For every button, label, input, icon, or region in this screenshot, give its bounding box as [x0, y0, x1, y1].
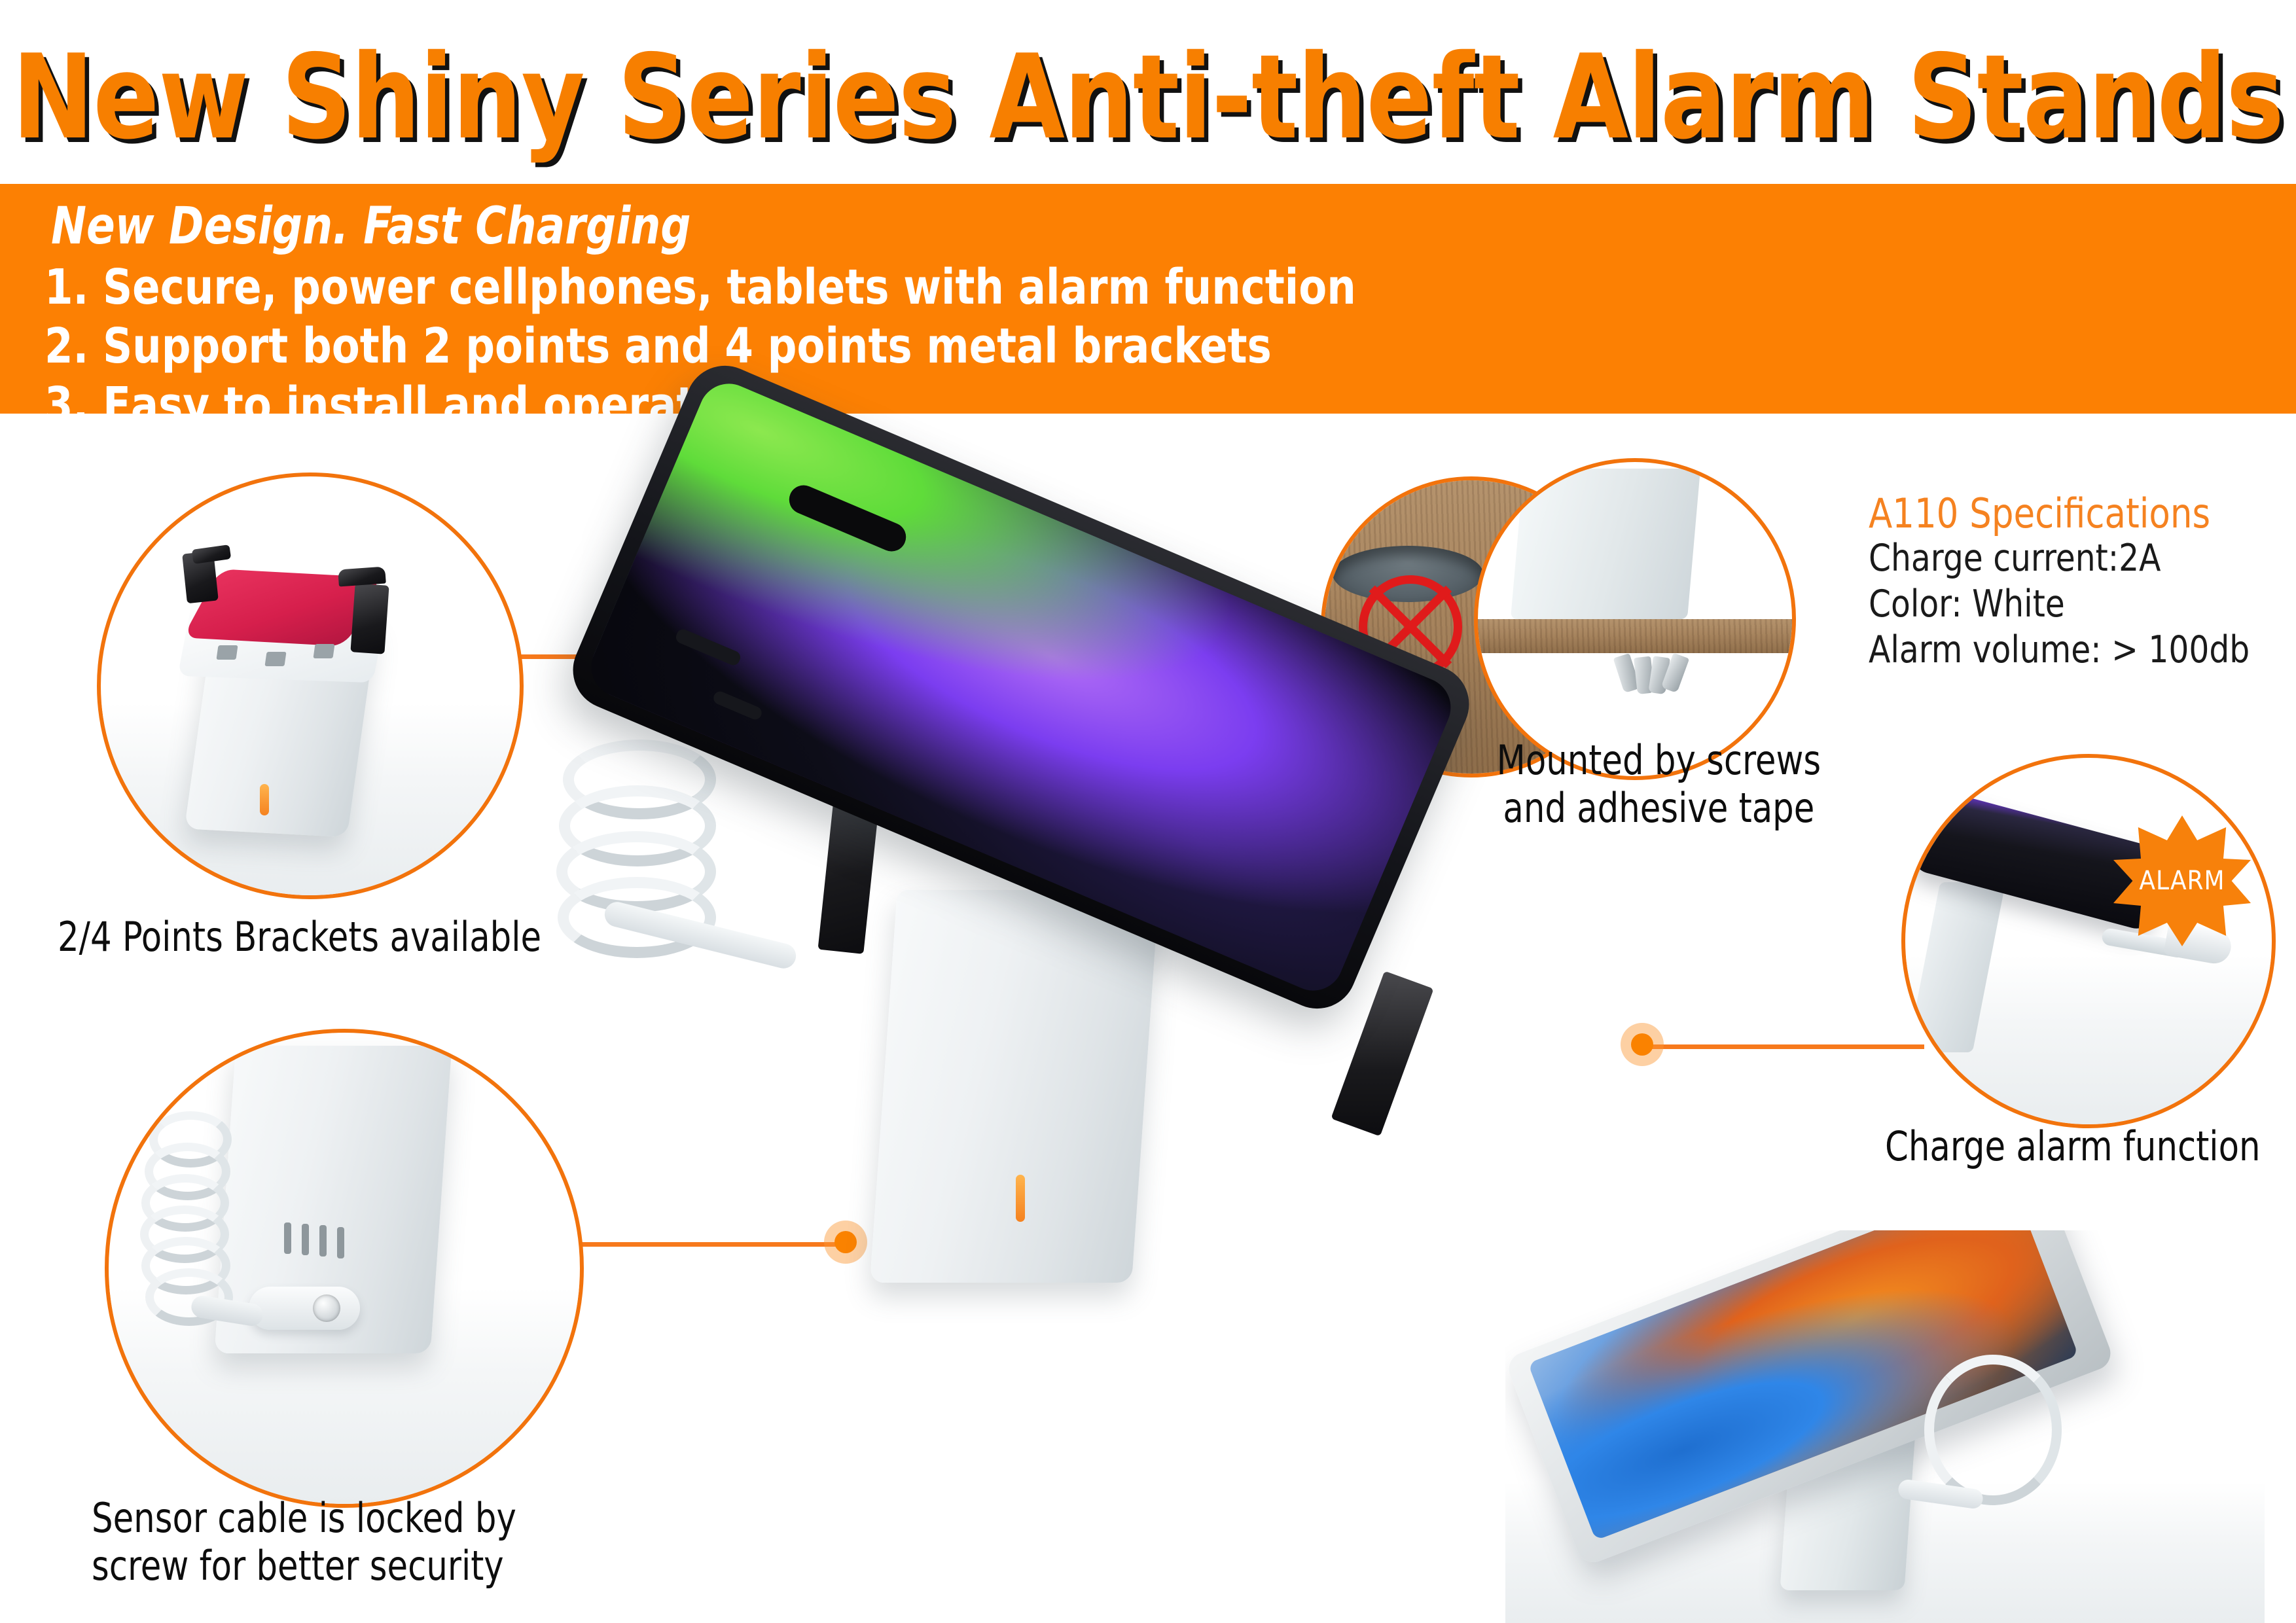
- poster-canvas: New Shiny Series Anti-theft Alarm Stands…: [0, 0, 2296, 1623]
- banner-feature-1: 1. Secure, power cellphones, tablets wit…: [45, 259, 1356, 315]
- caption-charge-alarm: Charge alarm function: [1885, 1122, 2261, 1170]
- callout-circle-brackets: [97, 473, 524, 899]
- spec-alarm-volume: Alarm volume: > 100db: [1869, 628, 2267, 673]
- cable-lock-housing: [249, 1287, 360, 1330]
- banner-heading: New Design. Fast Charging: [51, 197, 691, 256]
- bracket-right-arm: [338, 567, 386, 587]
- spec-color: Color: White: [1869, 582, 2267, 628]
- bracket-right: [350, 583, 389, 654]
- tablet-coiled-cable: [1924, 1355, 2062, 1505]
- page-title: New Shiny Series Anti-theft Alarm Stands: [0, 22, 2296, 173]
- port-slot: [216, 645, 238, 660]
- callout-circle-charge-alarm: ALARM: [1901, 754, 2276, 1128]
- specifications-block: A110 Specifications Charge current:2A Co…: [1869, 491, 2287, 673]
- hero-stand-body: [870, 890, 1159, 1283]
- port-slot: [264, 652, 286, 666]
- caption-sensor: Sensor cable is locked by screw for bett…: [92, 1494, 516, 1590]
- specifications-title: A110 Specifications: [1869, 491, 2267, 536]
- port-slot: [313, 644, 334, 658]
- speaker-vent: [302, 1224, 309, 1255]
- spec-charge-current: Charge current:2A: [1869, 536, 2267, 582]
- bracket-left-arm: [192, 544, 231, 564]
- page-title-text: New Shiny Series Anti-theft Alarm Stands: [12, 39, 2284, 156]
- speaker-vent: [319, 1225, 327, 1257]
- alarm-badge-label: ALARM: [2139, 866, 2225, 896]
- speaker-vent: [337, 1227, 344, 1258]
- locking-screw-icon: [313, 1294, 340, 1322]
- led-indicator: [260, 784, 269, 815]
- connector-line-alarm: [1649, 1044, 1924, 1049]
- banner-feature-2: 2. Support both 2 points and 4 points me…: [45, 318, 1272, 374]
- hero-led-indicator: [1016, 1175, 1025, 1222]
- callout-circle-sensor: [105, 1029, 584, 1508]
- banner-feature-3: 3. Easy to install and operate: [45, 377, 724, 433]
- tablet-product-photo: [1505, 1230, 2265, 1623]
- speaker-vent: [284, 1222, 291, 1254]
- feature-banner: New Design. Fast Charging 1. Secure, pow…: [0, 184, 2296, 414]
- caption-brackets: 2/4 Points Brackets available: [58, 913, 541, 961]
